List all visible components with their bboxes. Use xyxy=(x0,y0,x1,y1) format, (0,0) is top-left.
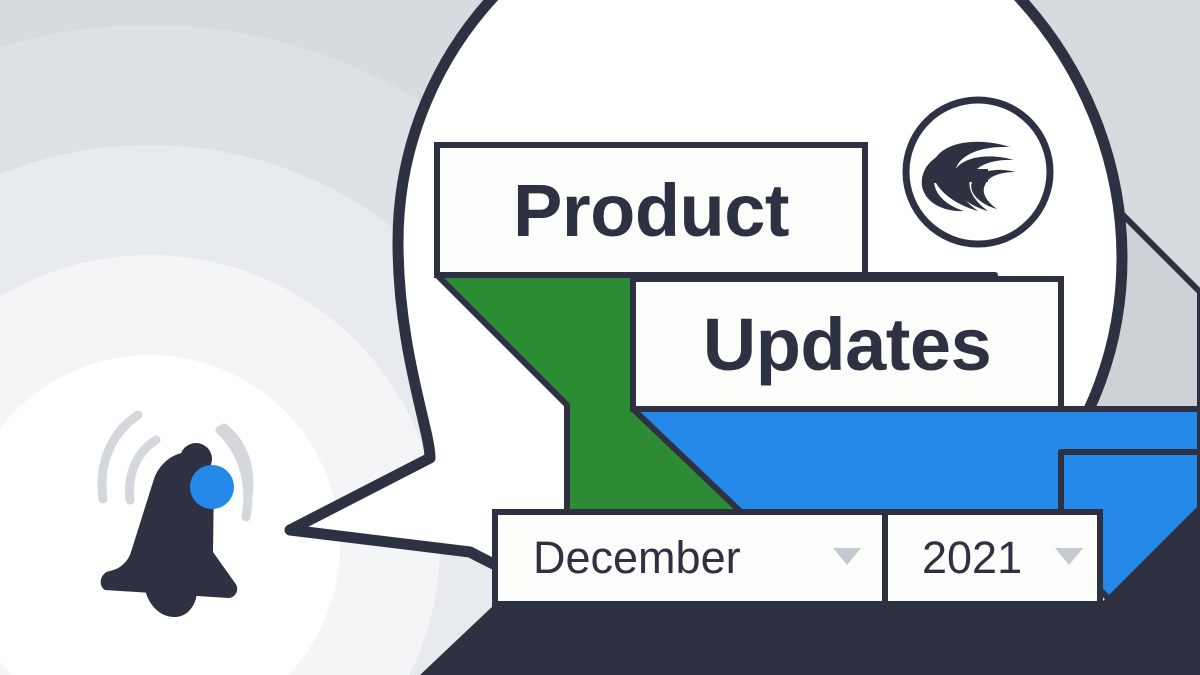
swoosh-bar-mid xyxy=(962,169,988,182)
year-dropdown-value[interactable]: 2021 xyxy=(922,512,1022,604)
month-dropdown-value[interactable]: December xyxy=(533,512,741,604)
chevron-down-icon-month[interactable] xyxy=(833,548,861,565)
product-updates-banner: Product Updates December 2021 xyxy=(0,0,1200,675)
chevron-down-icon-year[interactable] xyxy=(1055,548,1083,565)
